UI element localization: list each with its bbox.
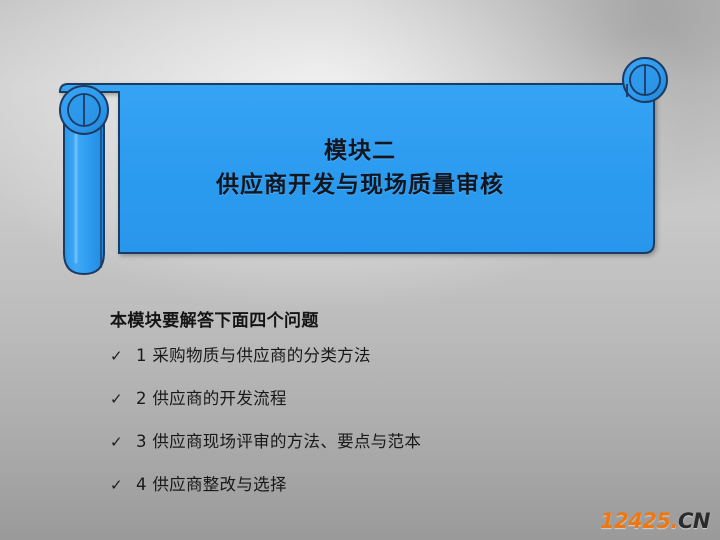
banner-title: 模块二 供应商开发与现场质量审核 <box>120 134 600 202</box>
list-item: ✓ 2 供应商的开发流程 <box>110 388 650 410</box>
list-item-label: 4 供应商整改与选择 <box>136 474 650 496</box>
question-list: ✓ 1 采购物质与供应商的分类方法 ✓ 2 供应商的开发流程 ✓ 3 供应商现场… <box>110 345 650 496</box>
check-icon: ✓ <box>110 431 136 453</box>
check-icon: ✓ <box>110 388 136 410</box>
watermark-number: 12425 <box>600 509 671 533</box>
banner-title-line-1: 模块二 <box>120 134 600 168</box>
list-item-label: 2 供应商的开发流程 <box>136 388 650 410</box>
watermark: 12425.CN <box>600 511 710 532</box>
slide-canvas: 模块二 供应商开发与现场质量审核 本模块要解答下面四个问题 ✓ 1 采购物质与供… <box>0 0 720 540</box>
content-heading: 本模块要解答下面四个问题 <box>110 310 650 332</box>
scroll-curl-left <box>60 86 108 134</box>
check-icon: ✓ <box>110 474 136 496</box>
check-icon: ✓ <box>110 345 136 367</box>
list-item-label: 1 采购物质与供应商的分类方法 <box>136 345 650 367</box>
list-item-label: 3 供应商现场评审的方法、要点与范本 <box>136 431 650 453</box>
list-item: ✓ 4 供应商整改与选择 <box>110 474 650 496</box>
banner-title-line-2: 供应商开发与现场质量审核 <box>120 168 600 202</box>
list-item: ✓ 3 供应商现场评审的方法、要点与范本 <box>110 431 650 453</box>
scroll-curl-right <box>623 58 667 102</box>
list-item: ✓ 1 采购物质与供应商的分类方法 <box>110 345 650 367</box>
watermark-suffix: CN <box>678 509 710 533</box>
watermark-dot: . <box>671 509 678 533</box>
content-block: 本模块要解答下面四个问题 ✓ 1 采购物质与供应商的分类方法 ✓ 2 供应商的开… <box>110 310 650 517</box>
